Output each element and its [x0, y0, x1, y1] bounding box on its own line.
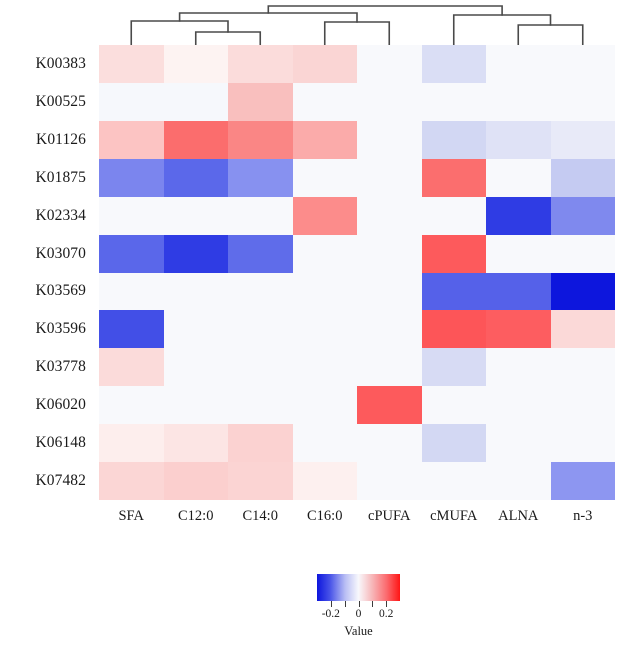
heatmap-cell-K01875-C14-0: [228, 159, 293, 197]
colorbar-tick: [386, 601, 387, 607]
dendrogram-svg: [99, 2, 615, 45]
heatmap-cell-K03070-ALNA: [486, 235, 551, 273]
heatmap-cell-K03569-SFA: [99, 273, 164, 311]
colorbar-gradient: [317, 574, 400, 601]
heatmap-cell-K03778-C14-0: [228, 348, 293, 386]
heatmap-cell-K03596-C14-0: [228, 310, 293, 348]
heatmap-cell-K01875-C12-0: [164, 159, 229, 197]
heatmap-cell-K06148-C16-0: [293, 424, 358, 462]
heatmap-cell-K01126-ALNA: [486, 121, 551, 159]
colorbar-tick: [359, 601, 360, 607]
dendro-node-right-super: [454, 15, 551, 45]
heatmap-cell-K03070-n-3: [551, 235, 616, 273]
heatmap-cell-K00383-C14-0: [228, 45, 293, 83]
heatmap-cell-K03070-SFA: [99, 235, 164, 273]
dendro-node-c16-cpufa: [325, 22, 390, 45]
heatmap-cell-K03569-C16-0: [293, 273, 358, 311]
heatmap-cell-K02334-cPUFA: [357, 197, 422, 235]
heatmap-cell-K06148-SFA: [99, 424, 164, 462]
heatmap-cell-K03070-cMUFA: [422, 235, 487, 273]
heatmap-cell-K00383-C12-0: [164, 45, 229, 83]
heatmap-cell-K01126-C16-0: [293, 121, 358, 159]
heatmap-cell-K01875-SFA: [99, 159, 164, 197]
row-label-k03778: K03778: [0, 348, 93, 386]
heatmap-cell-K03778-cMUFA: [422, 348, 487, 386]
heatmap-cell-K06148-n-3: [551, 424, 616, 462]
row-label-axis: K00383 K00525 K01126 K01875 K02334 K0307…: [0, 45, 93, 500]
heatmap-cell-K01875-ALNA: [486, 159, 551, 197]
column-label-axis: SFA C12:0 C14:0 C16:0 cPUFA cMUFA ALNA n…: [99, 503, 615, 529]
heatmap-cell-K07482-C12-0: [164, 462, 229, 500]
heatmap-cell-K03569-n-3: [551, 273, 616, 311]
dendro-node-sfa-cluster: [131, 21, 228, 45]
heatmap-cell-K00383-SFA: [99, 45, 164, 83]
heatmap-cell-K00525-cPUFA: [357, 83, 422, 121]
heatmap-cell-K07482-n-3: [551, 462, 616, 500]
heatmap-cell-K00525-n-3: [551, 83, 616, 121]
row-label-k00383: K00383: [0, 45, 93, 83]
heatmap-cell-K03569-cMUFA: [422, 273, 487, 311]
heatmap-cell-K03596-n-3: [551, 310, 616, 348]
heatmap-cell-K06020-C14-0: [228, 386, 293, 424]
heatmap-cell-K07482-SFA: [99, 462, 164, 500]
row-label-k03569: K03569: [0, 273, 93, 311]
heatmap-cell-K01875-n-3: [551, 159, 616, 197]
row-label-k01126: K01126: [0, 121, 93, 159]
heatmap-cell-K06148-ALNA: [486, 424, 551, 462]
heatmap-cell-K02334-C14-0: [228, 197, 293, 235]
column-dendrogram: [99, 2, 615, 45]
heatmap-cell-K06020-C16-0: [293, 386, 358, 424]
heatmap-cell-K01126-cMUFA: [422, 121, 487, 159]
heatmap-cell-K00383-ALNA: [486, 45, 551, 83]
heatmap-grid: [99, 45, 615, 500]
heatmap-cell-K06148-C14-0: [228, 424, 293, 462]
heatmap-cell-K00383-n-3: [551, 45, 616, 83]
heatmap-cell-K01126-cPUFA: [357, 121, 422, 159]
heatmap-cell-K03778-n-3: [551, 348, 616, 386]
heatmap-cell-K03070-cPUFA: [357, 235, 422, 273]
heatmap-cell-K00383-cPUFA: [357, 45, 422, 83]
heatmap-cell-K03596-cMUFA: [422, 310, 487, 348]
heatmap-cell-K01875-C16-0: [293, 159, 358, 197]
heatmap-cell-K03070-C16-0: [293, 235, 358, 273]
heatmap-cell-K03778-C12-0: [164, 348, 229, 386]
heatmap-cell-K07482-C16-0: [293, 462, 358, 500]
heatmap-cell-K07482-cPUFA: [357, 462, 422, 500]
column-label-n-3: n-3: [551, 503, 616, 529]
colorbar-tick-labels: -0.2 0 0.2: [300, 608, 419, 624]
heatmap-cell-K02334-C12-0: [164, 197, 229, 235]
heatmap-cell-K00525-cMUFA: [422, 83, 487, 121]
heatmap-cell-K06020-cMUFA: [422, 386, 487, 424]
heatmap-cell-K03778-cPUFA: [357, 348, 422, 386]
heatmap-cell-K02334-ALNA: [486, 197, 551, 235]
column-label-c12-0: C12:0: [164, 503, 229, 529]
heatmap-cell-K06020-SFA: [99, 386, 164, 424]
colorbar-tick: [331, 601, 332, 607]
heatmap-cell-K01126-SFA: [99, 121, 164, 159]
heatmap-cell-K03596-SFA: [99, 310, 164, 348]
heatmap-cell-K03070-C14-0: [228, 235, 293, 273]
heatmap-cell-K01875-cMUFA: [422, 159, 487, 197]
column-label-cpufa: cPUFA: [357, 503, 422, 529]
heatmap-cell-K02334-cMUFA: [422, 197, 487, 235]
row-label-k02334: K02334: [0, 197, 93, 235]
column-label-alna: ALNA: [486, 503, 551, 529]
row-label-k06020: K06020: [0, 386, 93, 424]
colorbar-tick: [372, 601, 373, 607]
heatmap-cell-K03569-ALNA: [486, 273, 551, 311]
colorbar-tick: [345, 601, 346, 607]
heatmap-cell-K06020-C12-0: [164, 386, 229, 424]
colorbar-ticks: [317, 601, 400, 608]
heatmap-cell-K00383-cMUFA: [422, 45, 487, 83]
heatmap-cell-K06148-cPUFA: [357, 424, 422, 462]
colorbar-title: Value: [317, 624, 400, 639]
heatmap-cell-K06148-cMUFA: [422, 424, 487, 462]
column-label-sfa: SFA: [99, 503, 164, 529]
heatmap-cell-K01126-C14-0: [228, 121, 293, 159]
heatmap-cell-K00525-SFA: [99, 83, 164, 121]
heatmap-cell-K03778-SFA: [99, 348, 164, 386]
heatmap-cell-K00383-C16-0: [293, 45, 358, 83]
heatmap-cell-K01875-cPUFA: [357, 159, 422, 197]
heatmap-cell-K00525-C16-0: [293, 83, 358, 121]
row-label-k00525: K00525: [0, 83, 93, 121]
row-label-k01875: K01875: [0, 159, 93, 197]
heatmap-figure: K00383 K00525 K01126 K01875 K02334 K0307…: [0, 0, 630, 655]
heatmap-cell-K00525-C14-0: [228, 83, 293, 121]
column-label-cmufa: cMUFA: [422, 503, 487, 529]
heatmap-cell-K07482-ALNA: [486, 462, 551, 500]
heatmap-cell-K03569-C14-0: [228, 273, 293, 311]
heatmap-cell-K03070-C12-0: [164, 235, 229, 273]
heatmap-cell-K03778-C16-0: [293, 348, 358, 386]
colorbar-tick-label-pos02: 0.2: [379, 608, 393, 620]
dendro-node-alna-n3: [518, 25, 583, 45]
heatmap-cell-K01126-C12-0: [164, 121, 229, 159]
row-label-k07482: K07482: [0, 462, 93, 500]
heatmap-cell-K02334-C16-0: [293, 197, 358, 235]
heatmap-cell-K06020-n-3: [551, 386, 616, 424]
heatmap-cell-K06148-C12-0: [164, 424, 229, 462]
heatmap-cell-K03569-cPUFA: [357, 273, 422, 311]
color-legend: -0.2 0 0.2 Value: [300, 572, 460, 642]
column-label-c14-0: C14:0: [228, 503, 293, 529]
heatmap-cell-K06020-ALNA: [486, 386, 551, 424]
heatmap-cell-K03596-C16-0: [293, 310, 358, 348]
heatmap-cell-K06020-cPUFA: [357, 386, 422, 424]
heatmap-cell-K00525-C12-0: [164, 83, 229, 121]
heatmap-cell-K02334-SFA: [99, 197, 164, 235]
row-label-k06148: K06148: [0, 424, 93, 462]
row-label-k03596: K03596: [0, 310, 93, 348]
heatmap-cell-K07482-cMUFA: [422, 462, 487, 500]
heatmap-cell-K03778-ALNA: [486, 348, 551, 386]
heatmap-cell-K03596-cPUFA: [357, 310, 422, 348]
dendro-node-c12-c14: [196, 32, 261, 45]
colorbar-tick-label-zero: 0: [356, 608, 362, 620]
heatmap-cell-K00525-ALNA: [486, 83, 551, 121]
heatmap-cell-K02334-n-3: [551, 197, 616, 235]
column-label-c16-0: C16:0: [293, 503, 358, 529]
heatmap-cell-K07482-C14-0: [228, 462, 293, 500]
heatmap-cell-K03596-ALNA: [486, 310, 551, 348]
colorbar-tick-label-neg02: -0.2: [322, 608, 340, 620]
heatmap-cell-K03596-C12-0: [164, 310, 229, 348]
row-label-k03070: K03070: [0, 235, 93, 273]
heatmap-cell-K03569-C12-0: [164, 273, 229, 311]
heatmap-cell-K01126-n-3: [551, 121, 616, 159]
